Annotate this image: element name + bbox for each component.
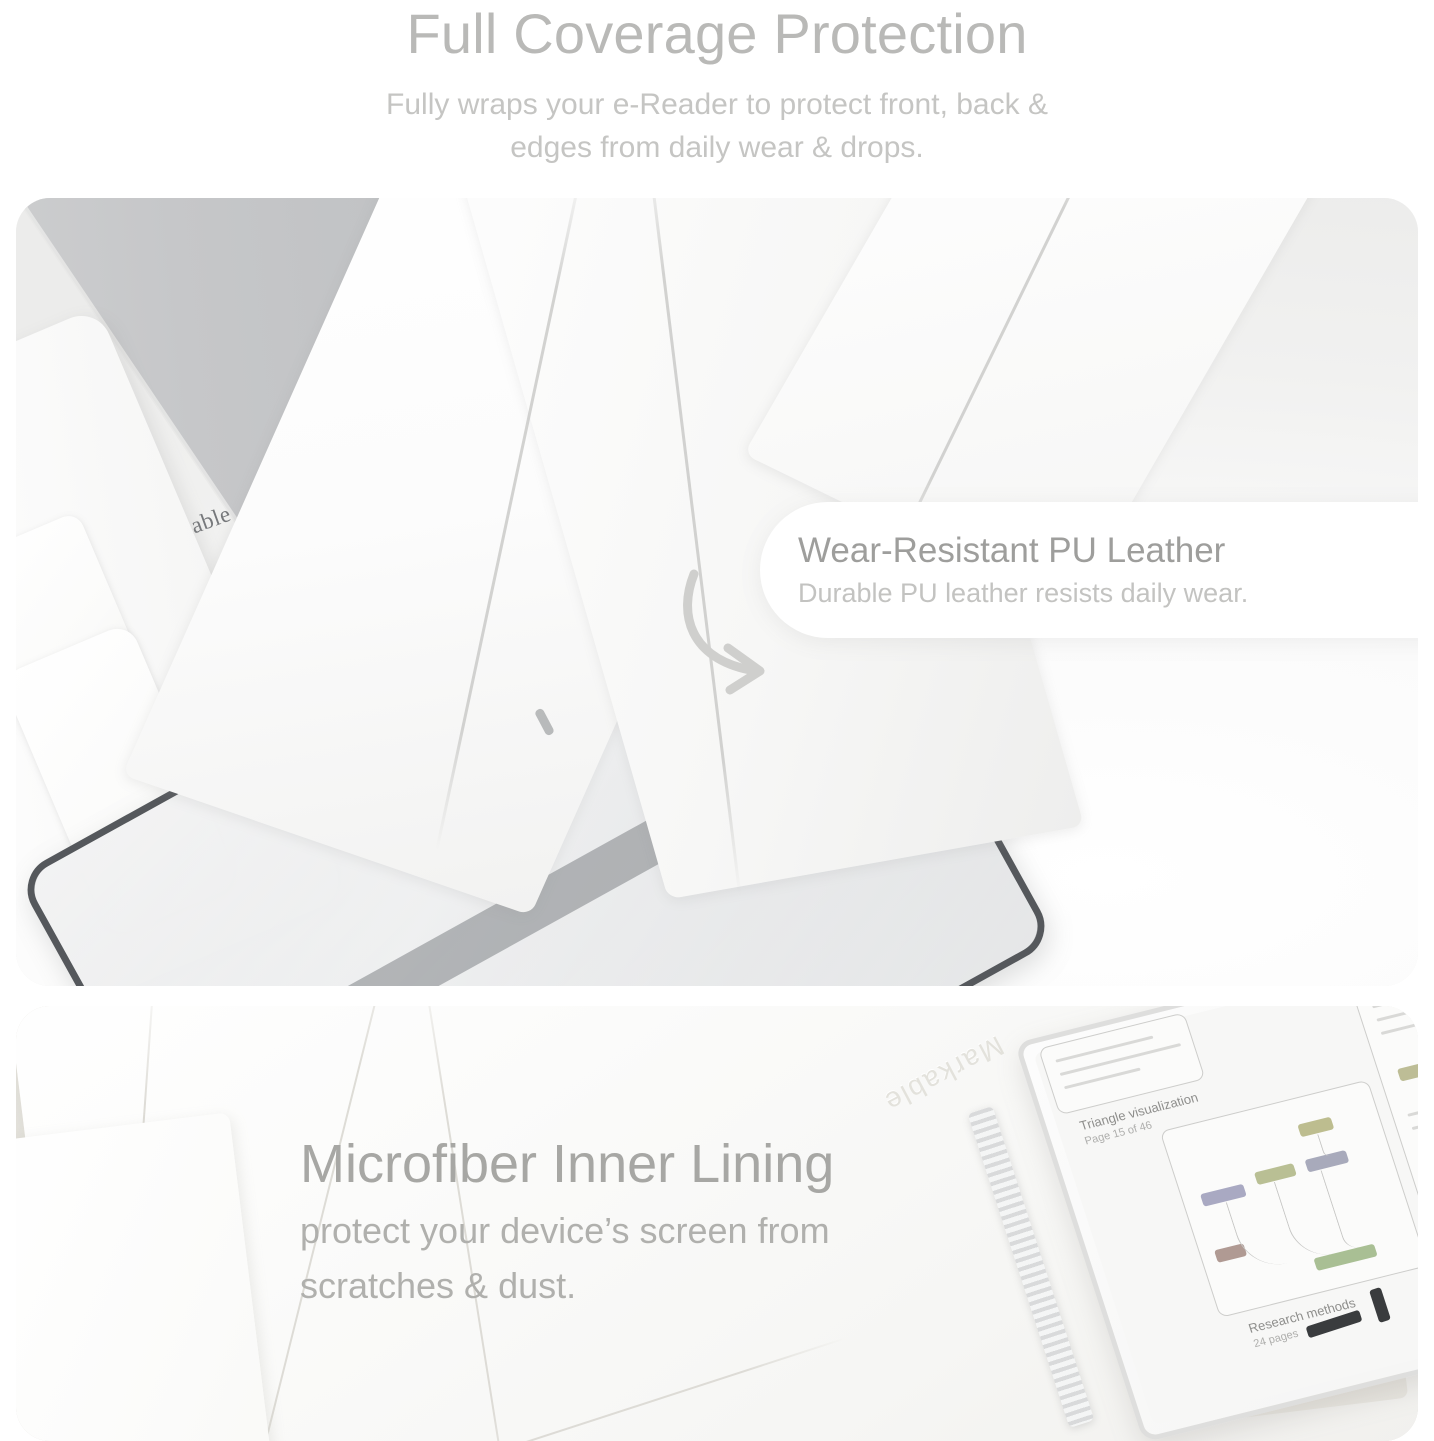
note-card-research-methods <box>1160 1080 1418 1318</box>
page-subtitle: Fully wraps your e-Reader to protect fro… <box>0 84 1434 169</box>
lining-feature-subtitle: protect your device’s screen from scratc… <box>300 1204 834 1313</box>
lining-feature-subtitle-line-2: scratches & dust. <box>300 1259 834 1314</box>
page-title: Full Coverage Protection <box>0 4 1434 64</box>
node-chip <box>1397 1060 1418 1082</box>
note-line <box>1372 1006 1418 1008</box>
node-connector <box>1317 1133 1330 1157</box>
lining-feature-subtitle-line-1: protect your device’s screen from <box>300 1204 834 1259</box>
lining-feature-title: Microfiber Inner Lining <box>300 1134 834 1194</box>
lining-feature-text: Microfiber Inner Lining protect your dev… <box>300 1134 834 1314</box>
note-line <box>1055 1036 1153 1063</box>
note-line <box>1412 1104 1418 1130</box>
note-line <box>1376 1006 1418 1022</box>
note-line <box>1060 1043 1182 1076</box>
callout-wear-resistant-pu-leather: Wear-Resistant PU Leather Durable PU lea… <box>760 502 1418 638</box>
feature-panel-lining: Markable 70% Triangle visualization Page… <box>16 1006 1418 1441</box>
page-subtitle-line-2: edges from daily wear & drops. <box>0 127 1434 170</box>
node-chip <box>1297 1117 1334 1138</box>
callout-leather-title: Wear-Resistant PU Leather <box>798 530 1418 571</box>
note-line <box>1407 1085 1418 1117</box>
page-subtitle-line-1: Fully wraps your e-Reader to protect fro… <box>0 84 1434 127</box>
callout-leather-subtitle: Durable PU leather resists daily wear. <box>798 577 1418 610</box>
feature-panel-protection: Markable Wear-Resistant PU Leather Durab… <box>16 198 1418 986</box>
header: Full Coverage Protection Fully wraps you… <box>0 0 1434 170</box>
